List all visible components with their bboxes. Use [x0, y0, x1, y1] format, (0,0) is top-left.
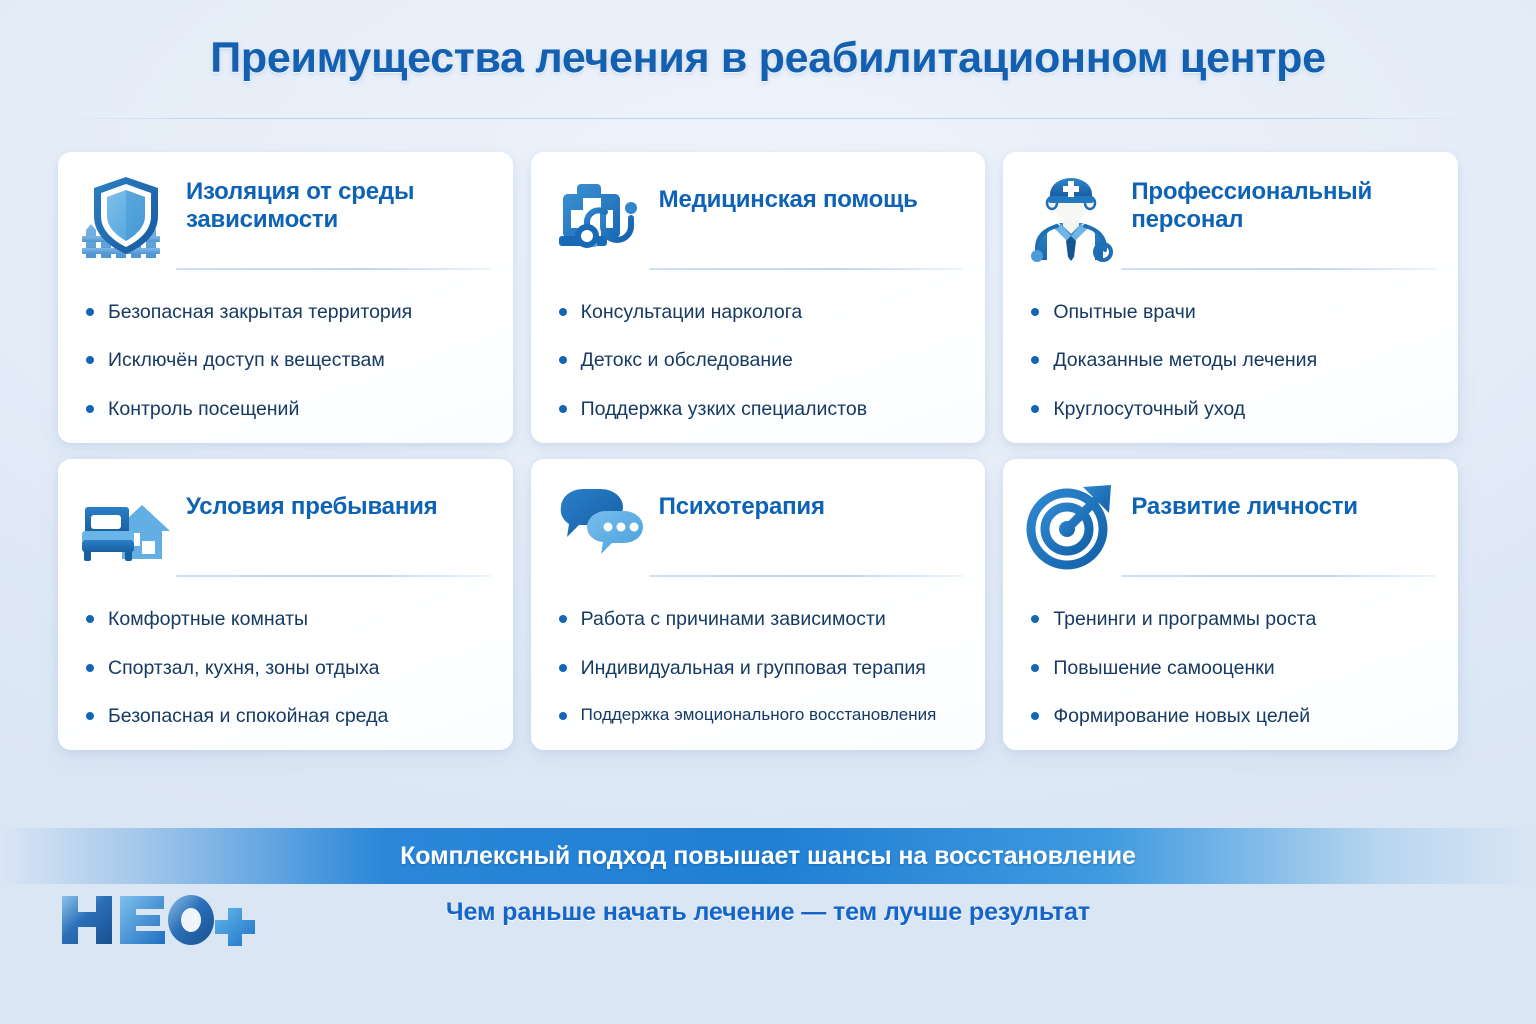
- banner-text: Комплексный подход повышает шансы на вос…: [400, 842, 1136, 871]
- card-bullet-list: Тренинги и программы роста Повышение сам…: [1025, 607, 1436, 728]
- card-header: Профессиональный персонал: [1025, 172, 1436, 264]
- card-bullet-list: Комфортные комнаты Спортзал, кухня, зоны…: [80, 607, 491, 728]
- list-item: Формирование новых целей: [1025, 704, 1436, 728]
- list-item: Работа с причинами зависимости: [553, 607, 964, 631]
- footer-tagline: Чем раньше начать лечение — тем лучше ре…: [0, 898, 1536, 927]
- card-bullet-list: Опытные врачи Доказанные методы лечения …: [1025, 300, 1436, 421]
- benefit-card-living-conditions: Условия пребывания Комфортные комнаты Сп…: [58, 459, 513, 750]
- page-title-wrap: Преимущества лечения в реабилитационном …: [0, 34, 1536, 83]
- card-divider: [649, 268, 964, 270]
- card-header: Изоляция от среды зависимости: [80, 172, 491, 264]
- list-item: Консультации нарколога: [553, 300, 964, 324]
- list-item: Круглосуточный уход: [1025, 397, 1436, 421]
- card-divider: [1121, 575, 1436, 577]
- list-item: Контроль посещений: [80, 397, 491, 421]
- card-title: Развитие личности: [1131, 479, 1358, 521]
- infographic-page: Преимущества лечения в реабилитационном …: [0, 0, 1536, 1024]
- list-item: Спортзал, кухня, зоны отдыха: [80, 656, 491, 680]
- benefit-card-isolation: Изоляция от среды зависимости Безопасная…: [58, 152, 513, 443]
- card-divider: [176, 575, 491, 577]
- card-header: Психотерапия: [553, 479, 964, 571]
- card-bullet-list: Консультации нарколога Детокс и обследов…: [553, 300, 964, 421]
- list-item: Доказанные методы лечения: [1025, 348, 1436, 372]
- card-header: Развитие личности: [1025, 479, 1436, 571]
- list-item: Исключён доступ к веществам: [80, 348, 491, 372]
- card-bullet-list: Безопасная закрытая территория Исключён …: [80, 300, 491, 421]
- card-divider: [176, 268, 491, 270]
- list-item: Безопасная и спокойная среда: [80, 704, 491, 728]
- speech-bubbles-icon: [553, 479, 645, 571]
- summary-banner: Комплексный подход повышает шансы на вос…: [0, 828, 1536, 884]
- shield-fence-icon: [80, 172, 172, 264]
- list-item: Опытные врачи: [1025, 300, 1436, 324]
- list-item: Детокс и обследование: [553, 348, 964, 372]
- list-item: Индивидуальная и групповая терапия: [553, 656, 964, 680]
- title-divider: [58, 118, 1478, 119]
- target-arrow-icon: [1025, 479, 1117, 571]
- list-item: Тренинги и программы роста: [1025, 607, 1436, 631]
- benefit-card-medical-help: Медицинская помощь Консультации нарколог…: [531, 152, 986, 443]
- list-item: Безопасная закрытая территория: [80, 300, 491, 324]
- card-divider: [649, 575, 964, 577]
- benefit-card-professional-staff: Профессиональный персонал Опытные врачи …: [1003, 152, 1458, 443]
- list-item: Комфортные комнаты: [80, 607, 491, 631]
- card-title: Профессиональный персонал: [1131, 172, 1436, 235]
- bed-house-icon: [80, 479, 172, 571]
- page-title: Преимущества лечения в реабилитационном …: [0, 34, 1536, 83]
- list-item: Поддержка узких специалистов: [553, 397, 964, 421]
- doctor-icon: [1025, 172, 1117, 264]
- list-item: Поддержка эмоционального восстановления: [553, 704, 964, 725]
- list-item: Повышение самооценки: [1025, 656, 1436, 680]
- card-divider: [1121, 268, 1436, 270]
- card-header: Условия пребывания: [80, 479, 491, 571]
- card-title: Психотерапия: [659, 479, 825, 521]
- card-bullet-list: Работа с причинами зависимости Индивидуа…: [553, 607, 964, 725]
- card-title: Изоляция от среды зависимости: [186, 172, 491, 235]
- card-title: Медицинская помощь: [659, 172, 918, 214]
- medical-bag-stethoscope-icon: [553, 172, 645, 264]
- card-title: Условия пребывания: [186, 479, 437, 521]
- benefits-grid: Изоляция от среды зависимости Безопасная…: [58, 152, 1458, 750]
- benefit-card-personal-development: Развитие личности Тренинги и программы р…: [1003, 459, 1458, 750]
- footer: Чем раньше начать лечение — тем лучше ре…: [0, 884, 1536, 974]
- benefit-card-psychotherapy: Психотерапия Работа с причинами зависимо…: [531, 459, 986, 750]
- card-header: Медицинская помощь: [553, 172, 964, 264]
